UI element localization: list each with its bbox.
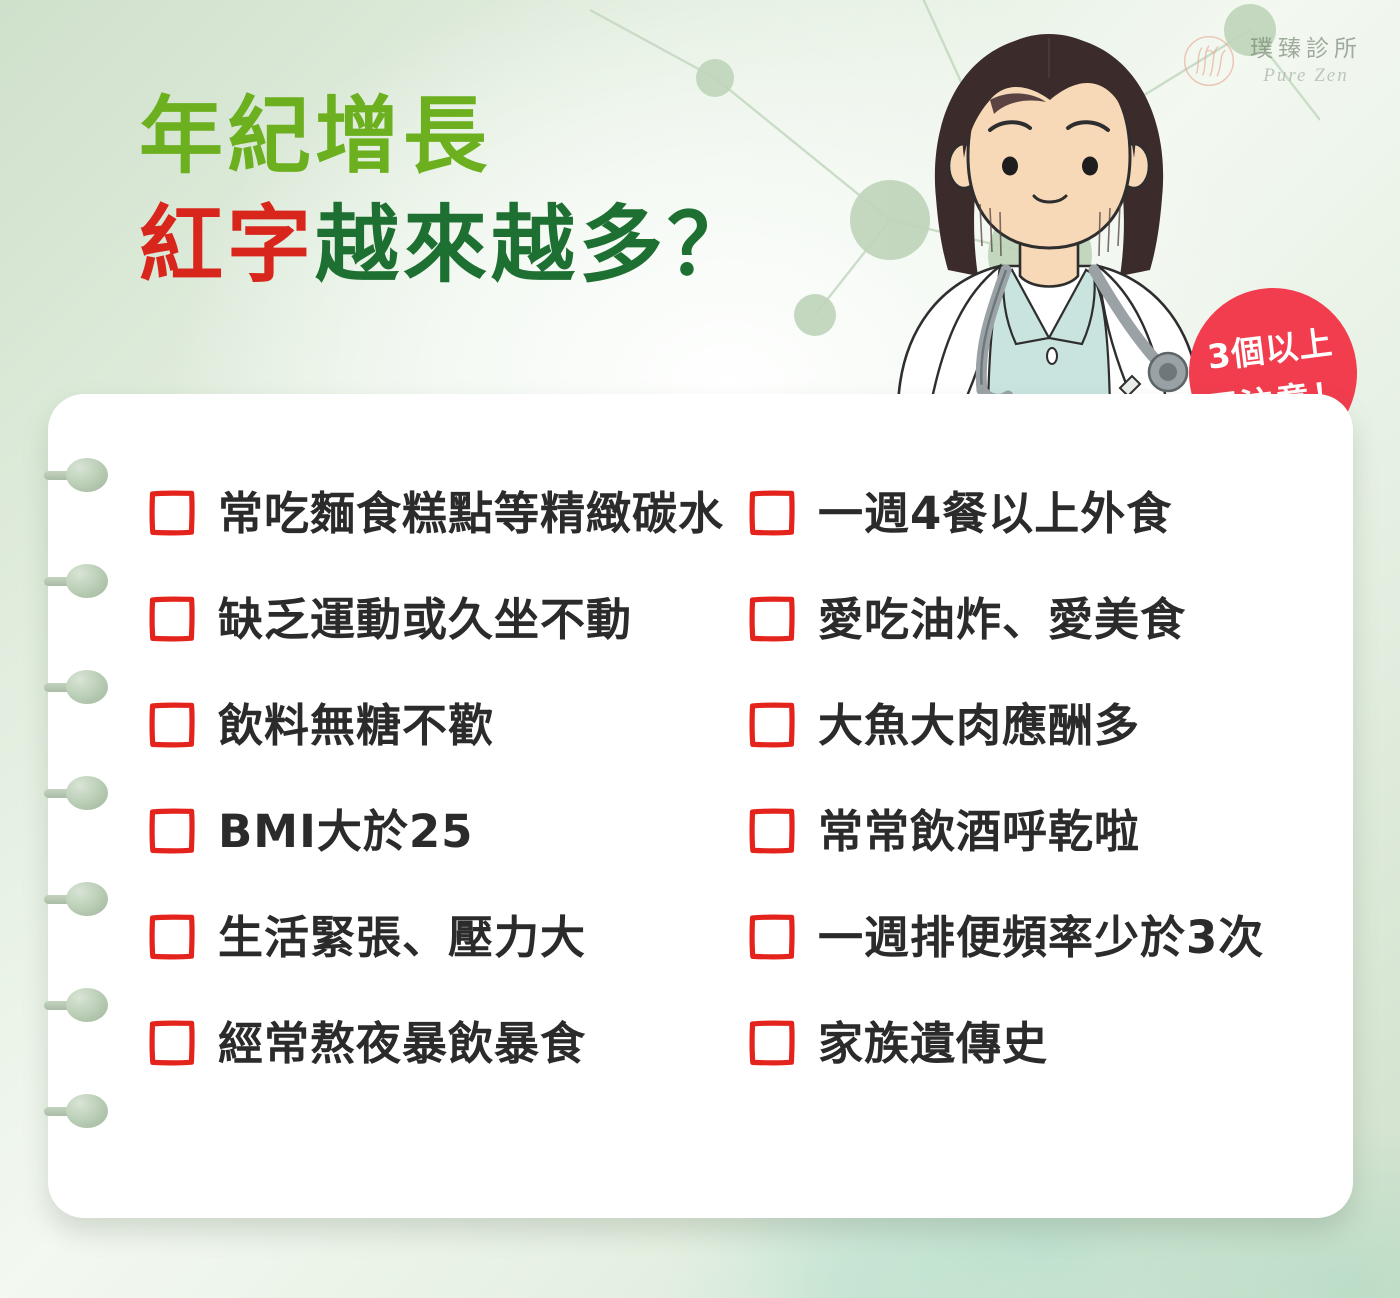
checklist-item-label: 生活緊張、壓力大 <box>218 915 586 960</box>
checkbox-icon[interactable] <box>748 701 796 749</box>
checklist-item-label: 一週排便頻率少於3次 <box>818 915 1264 960</box>
checklist-grid: 常吃麵食糕點等精緻碳水一週4餐以上外食缺乏運動或久坐不動愛吃油炸、愛美食飲料無糖… <box>148 460 1328 1096</box>
checkbox-icon[interactable] <box>148 1019 196 1067</box>
title-highlight-red: 紅字 <box>139 196 315 294</box>
checklist-item-label: 常吃麵食糕點等精緻碳水 <box>218 491 724 536</box>
spiral-binding-holes <box>44 458 114 1158</box>
spiral-hole-knob <box>66 882 108 916</box>
page-title: 年紀增長 紅字越來越多？ <box>139 92 755 290</box>
checklist-item-label: 愛吃油炸、愛美食 <box>818 597 1186 642</box>
spiral-hole-knob <box>66 776 108 810</box>
checkbox-icon[interactable] <box>148 489 196 537</box>
checkbox-icon[interactable] <box>148 913 196 961</box>
spiral-hole <box>44 564 108 598</box>
checklist-item-label: 家族遺傳史 <box>818 1021 1048 1066</box>
checklist-item[interactable]: 經常熬夜暴飲暴食 <box>148 990 748 1096</box>
brand-name-en: Pure Zen <box>1263 66 1348 85</box>
checkbox-icon[interactable] <box>148 701 196 749</box>
checklist-item[interactable]: 一週排便頻率少於3次 <box>748 884 1328 990</box>
checklist-item[interactable]: 常常飲酒呼乾啦 <box>748 778 1328 884</box>
spiral-hole-knob <box>66 1094 108 1128</box>
checklist-item-label: 大魚大肉應酬多 <box>818 703 1140 748</box>
title-line-2: 紅字越來越多？ <box>139 201 755 290</box>
checkbox-icon[interactable] <box>748 913 796 961</box>
checklist-item[interactable]: 常吃麵食糕點等精緻碳水 <box>148 460 748 566</box>
female-doctor-illustration <box>884 8 1214 408</box>
spiral-hole <box>44 988 108 1022</box>
checklist-item[interactable]: 愛吃油炸、愛美食 <box>748 566 1328 672</box>
checklist-item[interactable]: BMI大於25 <box>148 778 748 884</box>
spiral-hole-knob <box>66 670 108 704</box>
checkbox-icon[interactable] <box>748 489 796 537</box>
checklist-item-label: 常常飲酒呼乾啦 <box>818 809 1140 854</box>
title-line-1: 年紀增長 <box>139 92 755 181</box>
checkbox-icon[interactable] <box>748 595 796 643</box>
spiral-hole <box>44 776 108 810</box>
spiral-hole-knob <box>66 988 108 1022</box>
spiral-hole-knob <box>66 458 108 492</box>
checklist-item[interactable]: 家族遺傳史 <box>748 990 1328 1096</box>
checklist-item[interactable]: 大魚大肉應酬多 <box>748 672 1328 778</box>
checklist-item[interactable]: 缺乏運動或久坐不動 <box>148 566 748 672</box>
spiral-hole <box>44 458 108 492</box>
checklist-item[interactable]: 一週4餐以上外食 <box>748 460 1328 566</box>
spiral-hole-knob <box>66 564 108 598</box>
spiral-hole <box>44 1094 108 1128</box>
title-rest-green: 越來越多？ <box>315 196 755 294</box>
checklist-item-label: 飲料無糖不歡 <box>218 703 494 748</box>
checklist-note-card: 常吃麵食糕點等精緻碳水一週4餐以上外食缺乏運動或久坐不動愛吃油炸、愛美食飲料無糖… <box>48 394 1353 1218</box>
checklist-item-label: 一週4餐以上外食 <box>818 491 1172 536</box>
spiral-hole <box>44 882 108 916</box>
brand-name-cn: 璞臻診所 <box>1250 38 1362 61</box>
checklist-item[interactable]: 生活緊張、壓力大 <box>148 884 748 990</box>
checkbox-icon[interactable] <box>148 807 196 855</box>
spiral-hole <box>44 670 108 704</box>
brand-logo-text: 璞臻診所 Pure Zen <box>1250 38 1362 85</box>
checkbox-icon[interactable] <box>748 1019 796 1067</box>
checklist-item[interactable]: 飲料無糖不歡 <box>148 672 748 778</box>
checkbox-icon[interactable] <box>748 807 796 855</box>
checklist-item-label: 缺乏運動或久坐不動 <box>218 597 632 642</box>
checklist-item-label: BMI大於25 <box>218 809 473 854</box>
checkbox-icon[interactable] <box>148 595 196 643</box>
checklist-item-label: 經常熬夜暴飲暴食 <box>218 1021 586 1066</box>
